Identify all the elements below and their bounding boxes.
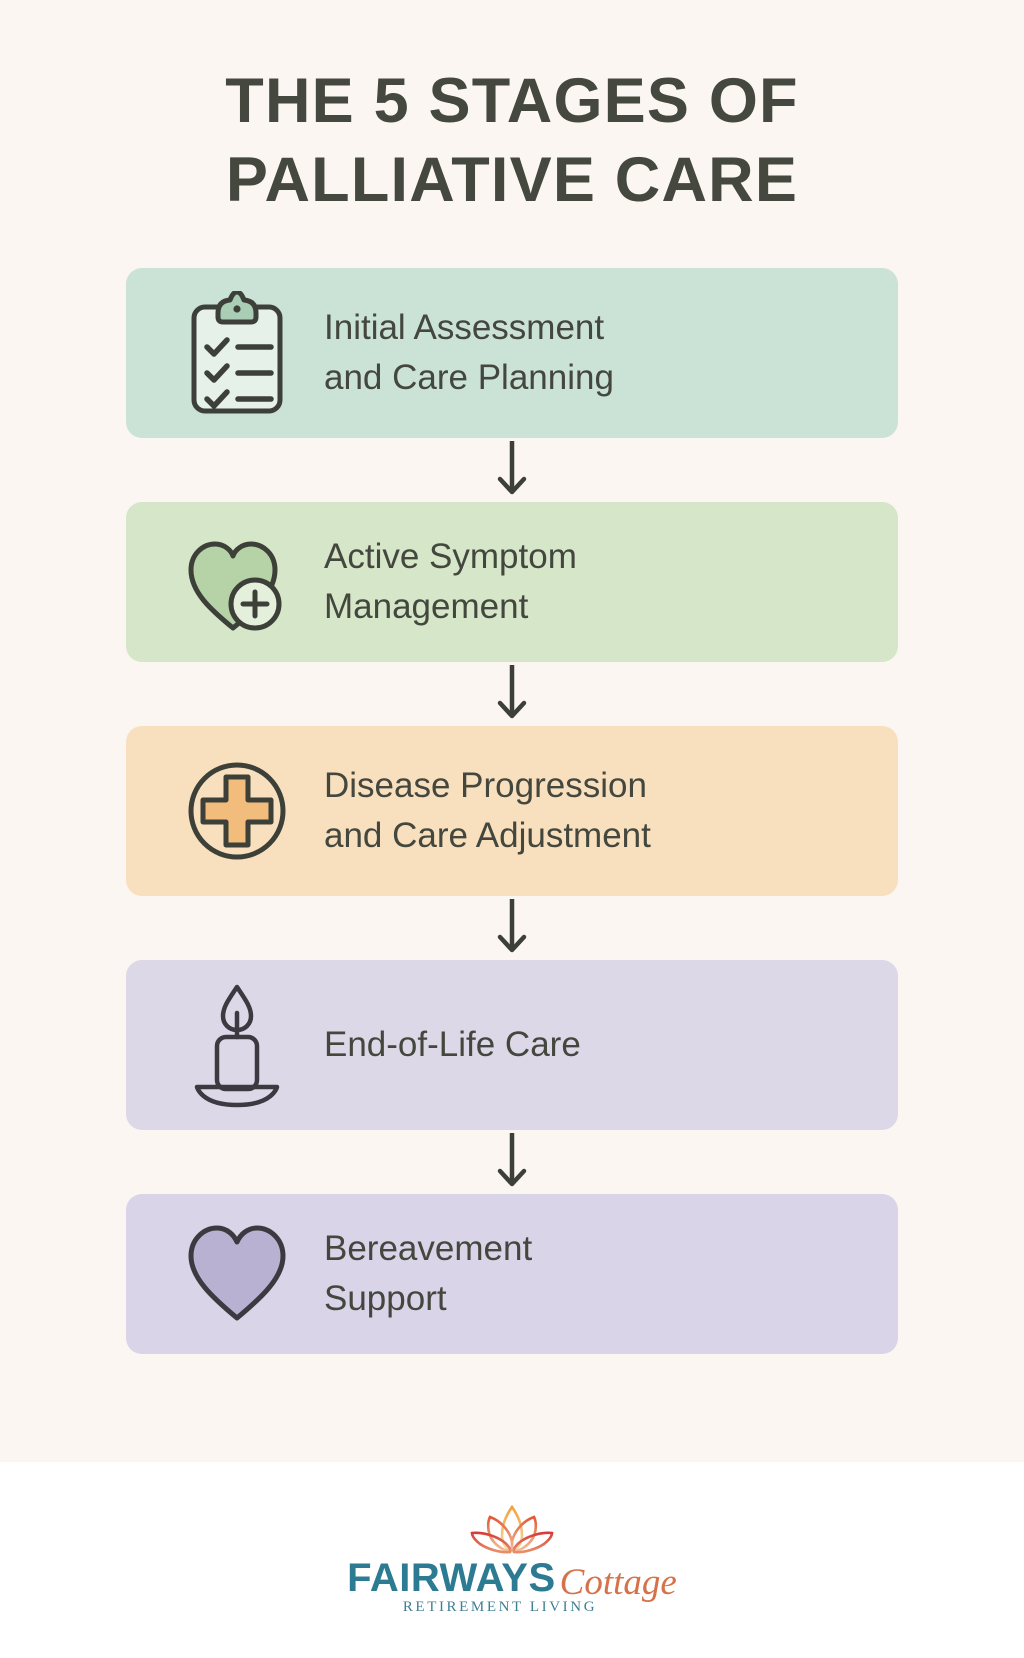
title-line-1: THE 5 STAGES OF — [0, 62, 1024, 141]
stage-label: Bereavement Support — [324, 1224, 532, 1323]
medical-cross-circle-icon — [178, 755, 296, 867]
connector-arrow-1 — [126, 438, 898, 502]
stage-label: Initial Assessment and Care Planning — [324, 303, 614, 402]
brand-name-secondary: Cottage — [560, 1561, 677, 1604]
down-arrow-icon — [492, 1133, 532, 1191]
heart-plus-icon — [178, 526, 296, 638]
down-arrow-icon — [492, 665, 532, 723]
down-arrow-icon — [492, 441, 532, 499]
stage-card-disease-progression[interactable]: Disease Progression and Care Adjustment — [126, 726, 898, 896]
stage-list: Initial Assessment and Care Planning Act… — [0, 268, 1024, 1354]
stage-label: Active Symptom Management — [324, 532, 577, 631]
clipboard-checklist-icon — [178, 291, 296, 415]
page-title: THE 5 STAGES OF PALLIATIVE CARE — [0, 0, 1024, 220]
candle-icon — [178, 979, 296, 1111]
brand-tagline: RETIREMENT LIVING — [335, 1599, 665, 1616]
title-line-2: PALLIATIVE CARE — [0, 141, 1024, 220]
lotus-flower-icon — [469, 1504, 555, 1554]
brand-wordmark: FAIRWAYS Cottage — [347, 1556, 677, 1601]
stage-card-initial-assessment[interactable]: Initial Assessment and Care Planning — [126, 268, 898, 438]
stage-card-end-of-life-care[interactable]: End-of-Life Care — [126, 960, 898, 1130]
stage-card-bereavement-support[interactable]: Bereavement Support — [126, 1194, 898, 1354]
connector-arrow-2 — [126, 662, 898, 726]
stage-card-active-symptom-management[interactable]: Active Symptom Management — [126, 502, 898, 662]
down-arrow-icon — [492, 899, 532, 957]
connector-arrow-3 — [126, 896, 898, 960]
footer-brand-bar: FAIRWAYS Cottage RETIREMENT LIVING — [0, 1462, 1024, 1658]
brand-logo: FAIRWAYS Cottage RETIREMENT LIVING — [347, 1504, 677, 1616]
heart-filled-icon — [178, 1222, 296, 1326]
stage-label: End-of-Life Care — [324, 1020, 581, 1070]
connector-arrow-4 — [126, 1130, 898, 1194]
infographic-page: THE 5 STAGES OF PALLIATIVE CARE Initia — [0, 0, 1024, 1658]
stage-label: Disease Progression and Care Adjustment — [324, 761, 651, 860]
brand-name-primary: FAIRWAYS — [347, 1556, 556, 1601]
